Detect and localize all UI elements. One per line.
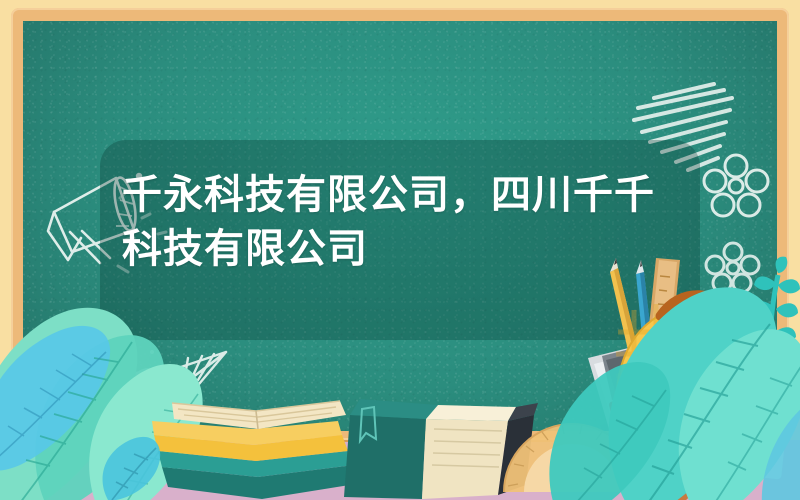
leaf-accent-blue	[96, 434, 166, 500]
leaves-right	[520, 220, 800, 500]
banner-canvas: 千永科技有限公司，四川千千科技有限公司	[0, 0, 800, 500]
